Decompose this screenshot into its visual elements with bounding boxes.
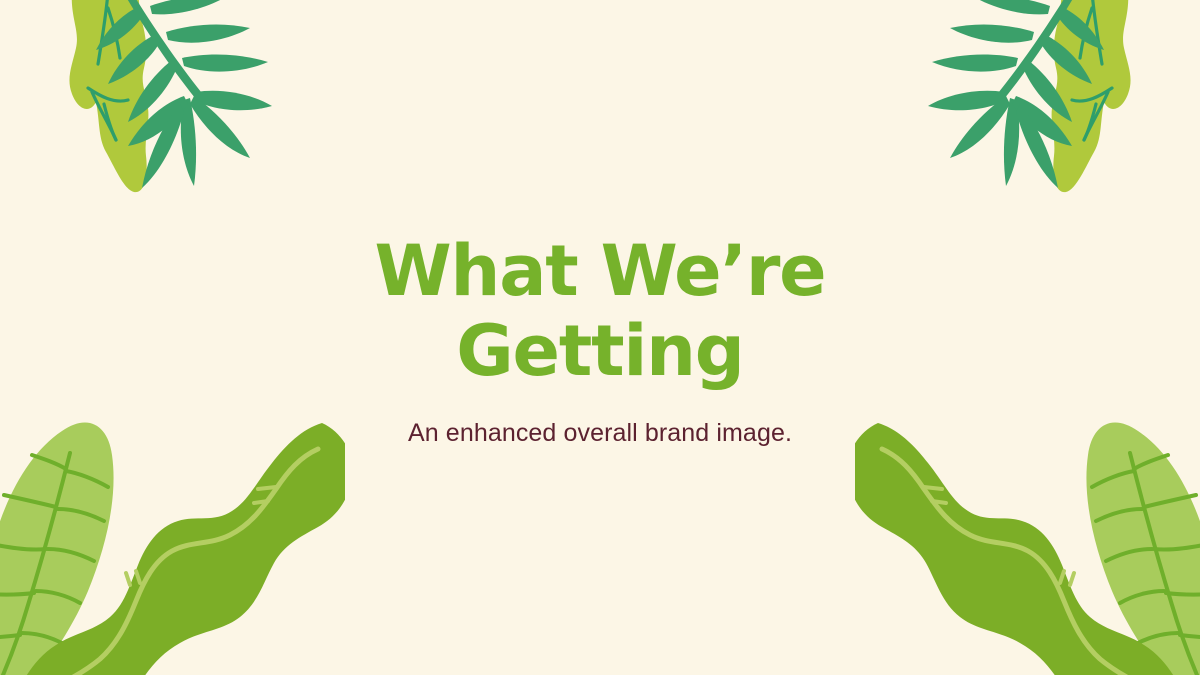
- wavy-ribbon-leaf-icon: [855, 423, 1178, 675]
- fern-frond-icon: [96, 0, 272, 188]
- slide-text-block: What We’re Getting An enhanced overall b…: [0, 232, 1200, 448]
- olive-blob-leaf-icon: [1052, 0, 1131, 192]
- leaf-cluster-top-right: [900, 0, 1200, 210]
- slide-title: What We’re Getting: [375, 232, 826, 392]
- fern-frond-icon: [928, 0, 1104, 188]
- wavy-ribbon-leaf-icon: [22, 423, 345, 675]
- banana-leaf-icon: [1086, 423, 1200, 675]
- slide-subtitle: An enhanced overall brand image.: [408, 419, 792, 448]
- olive-blob-leaf-icon: [69, 0, 148, 192]
- banana-leaf-icon: [0, 423, 114, 675]
- slide-canvas: What We’re Getting An enhanced overall b…: [0, 0, 1200, 675]
- leaf-cluster-top-left: [0, 0, 300, 210]
